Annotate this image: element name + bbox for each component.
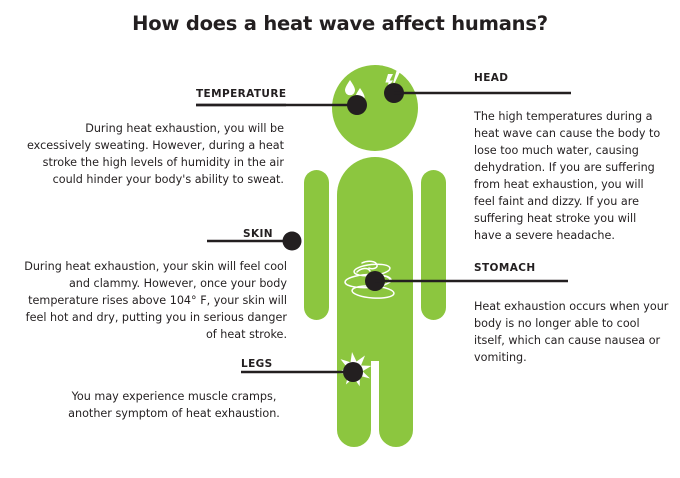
figure-head [332,65,418,151]
callout-text-temperature: During heat exhaustion, you will be exce… [20,120,284,188]
anchor-dot-temperature [347,95,367,115]
anchor-dot-legs [343,362,363,382]
callout-label-skin: SKIN [243,228,273,240]
callout-label-head: HEAD [474,72,508,84]
callout-text-skin: During heat exhaustion, your skin will f… [12,258,287,343]
figure-left-arm [304,170,329,320]
figure-right-arm [421,170,446,320]
callout-text-stomach: Heat exhaustion occurs when your body is… [474,298,670,366]
human-silhouette [304,65,446,447]
anchor-dot-skin [283,232,302,251]
heat-wave-infographic: How does a heat wave affect humans? [0,0,680,478]
callout-label-stomach: STOMACH [474,262,536,274]
callout-label-legs: LEGS [241,358,273,370]
callout-text-legs: You may experience muscle cramps, anothe… [60,388,288,422]
callout-text-head: The high temperatures during a heat wave… [474,108,667,244]
figure-left-leg [337,340,371,447]
callout-label-temperature: TEMPERATURE [196,88,286,100]
figure-hips [337,330,413,352]
figure-right-leg [379,340,413,447]
